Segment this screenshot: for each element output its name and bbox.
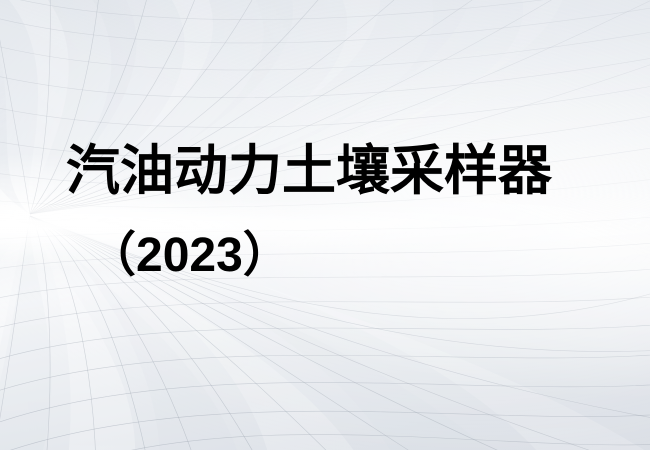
page-title: 汽油动力土壤采样器 <box>66 144 626 204</box>
title-year: （2023） <box>66 232 626 288</box>
title-block: 汽油动力土壤采样器 （2023） <box>66 144 626 288</box>
banner-canvas: 汽油动力土壤采样器 （2023） <box>0 0 650 450</box>
